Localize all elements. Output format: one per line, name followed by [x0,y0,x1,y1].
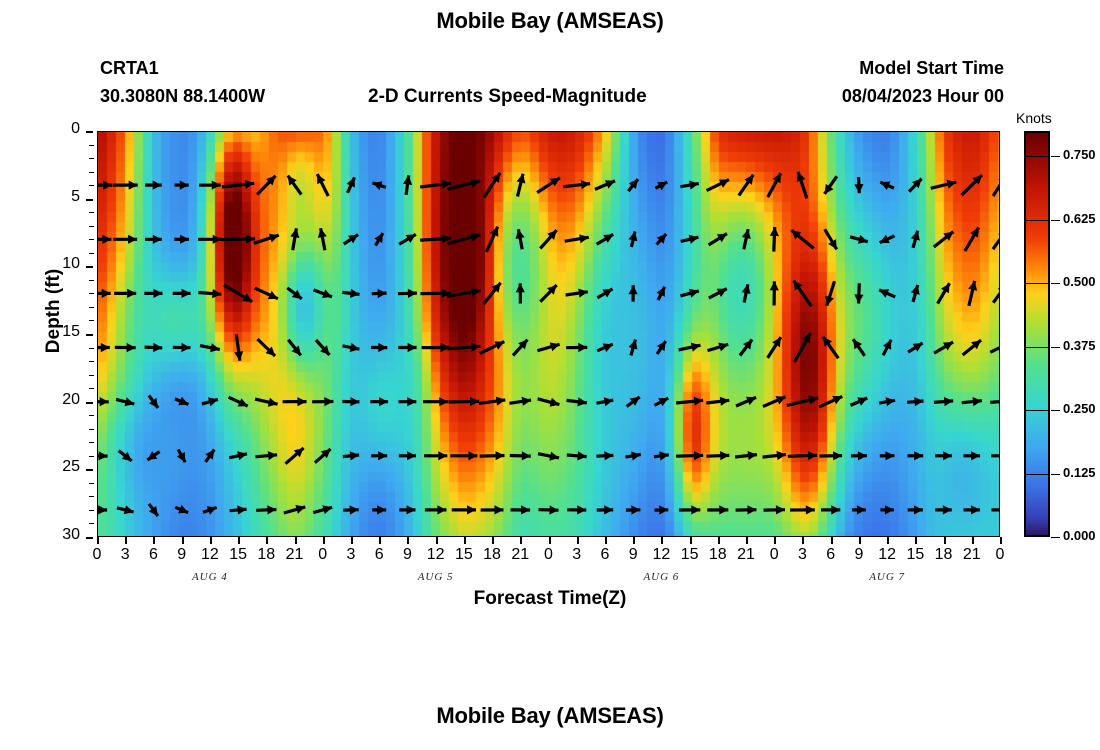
current-vector-arrow [317,174,328,196]
x-axis-tick-mark [746,537,748,544]
colorbar-tick-mark [1051,474,1060,475]
x-axis-tick-label: 21 [280,546,310,564]
current-vector-arrow [447,288,481,297]
y-axis-minor-tick [89,307,94,308]
current-vector-arrow [797,172,807,199]
colorbar-tick-label: 0.000 [1063,528,1096,543]
current-vector-arrow [770,281,779,305]
x-axis-tick-label: 3 [787,546,817,564]
current-vector-arrow [788,451,817,460]
current-vector-arrow [97,505,107,514]
y-axis-tick-label: 0 [40,120,80,138]
current-vector-arrow [229,451,247,460]
current-vector-arrow [425,505,447,514]
y-axis-tick-mark [86,266,93,268]
colorbar-tick-label: 0.750 [1063,147,1096,162]
current-vector-arrow [113,235,137,244]
current-vector-arrow [709,289,727,298]
colorbar-tick-mark [1051,347,1060,348]
station-id-label: CRTA1 [100,58,159,79]
x-axis-tick-label: 0 [759,546,789,564]
current-vector-arrow [909,179,922,192]
current-vector-arrow [911,231,920,248]
current-vector-arrow [736,505,757,514]
x-axis-tick-label: 21 [505,546,535,564]
current-vector-arrow [398,289,417,298]
x-axis-tick-label: 6 [816,546,846,564]
y-axis-minor-tick [89,523,94,524]
current-vector-arrow [540,230,556,248]
current-vector-arrow [854,177,863,193]
current-vector-arrow [911,285,920,302]
x-axis-day-label: AUG 6 [616,571,706,583]
y-axis-minor-tick [89,415,94,416]
x-axis-tick-label: 3 [336,546,366,564]
current-vector-arrow [283,397,307,406]
current-vector-arrow [709,234,727,245]
y-axis-tick-label: 15 [40,323,80,341]
current-vector-arrow [537,342,559,351]
current-vector-arrow [654,451,669,460]
colorbar-tick-mark [1051,156,1060,157]
current-vector-arrow [315,449,331,463]
current-vector-arrow [539,505,559,514]
current-vector-arrow [447,233,480,244]
current-vector-arrow [284,505,306,514]
colorbar-tick-label: 0.500 [1063,274,1096,289]
current-vector-arrow [97,397,109,406]
y-axis-tick-label: 25 [40,458,80,476]
current-vector-arrow [147,451,159,460]
current-vector-arrow [680,181,698,190]
current-vector-overlay [97,131,1000,537]
x-axis-tick-mark [125,537,127,544]
y-axis-minor-tick [89,483,94,484]
colorbar-tick-mark [1051,283,1060,284]
current-vector-arrow [679,505,700,514]
current-vector-arrow [399,234,416,244]
x-axis-tick-label: 18 [251,546,281,564]
current-vector-arrow [787,396,818,406]
current-vector-arrow [343,505,358,514]
bottom-title: Mobile Bay (AMSEAS) [0,703,1100,729]
current-vector-arrow [908,505,923,514]
current-vector-arrow [484,283,501,304]
current-vector-arrow [173,289,191,298]
current-vector-arrow [883,340,891,356]
current-vector-arrow [343,343,360,352]
y-axis-tick-mark [86,131,93,133]
current-vector-arrow [97,343,110,352]
x-axis-tick-label: 3 [110,546,140,564]
x-axis-tick-mark [182,537,184,544]
current-vector-arrow [993,174,1000,196]
current-vector-arrow [626,452,641,461]
current-vector-arrow [314,289,333,298]
current-vector-arrow [342,397,359,406]
current-vector-arrow [707,180,729,191]
y-axis-minor-tick [89,361,94,362]
current-vector-arrow [851,397,868,405]
current-vector-arrow [119,451,132,461]
current-vector-arrow [116,397,134,406]
current-vector-arrow [510,451,531,460]
colorbar [1024,131,1050,537]
x-axis-tick-label: 0 [985,546,1015,564]
current-vector-arrow [991,451,1000,460]
current-vector-arrow [935,505,952,514]
current-vector-arrow [486,227,498,252]
current-vector-arrow [825,281,834,305]
current-vector-arrow [480,451,505,460]
x-axis-tick-label: 12 [872,546,902,564]
x-axis-tick-label: 9 [167,546,197,564]
current-vector-arrow [115,343,136,352]
y-axis-tick-mark [86,537,93,539]
x-axis-tick-mark [238,537,240,544]
current-vector-arrow [880,235,895,243]
current-vector-arrow [398,343,416,352]
current-vector-arrow [399,451,416,460]
current-vector-arrow [706,451,729,460]
y-axis-minor-tick [89,212,94,213]
current-vector-arrow [290,228,299,250]
current-vector-arrow [234,334,243,360]
current-vector-arrow [421,289,451,298]
current-vector-arrow [825,229,837,249]
x-axis-tick-mark [718,537,720,544]
current-vector-arrow [819,451,842,460]
x-axis-day-label: AUG 5 [391,571,481,583]
current-vector-arrow [511,505,531,514]
current-vector-arrow [199,181,221,190]
current-vector-arrow [853,339,865,356]
x-axis-tick-label: 12 [195,546,225,564]
current-vector-arrow [993,284,1000,303]
x-axis-tick-mark [661,537,663,544]
x-axis-tick-mark [210,537,212,544]
current-vector-arrow [221,235,255,244]
current-vector-arrow [567,505,586,514]
current-vector-arrow [198,235,222,244]
y-axis-minor-tick [89,442,94,443]
current-vector-arrow [851,451,867,460]
current-vector-arrow [149,504,158,516]
x-axis-tick-label: 6 [590,546,620,564]
current-vector-arrow [626,505,641,514]
current-vector-arrow [854,283,863,303]
y-axis-minor-tick [89,429,94,430]
x-axis-tick-mark [859,537,861,544]
current-vector-arrow [708,343,729,352]
current-vector-arrow [372,505,386,514]
current-vector-arrow [97,451,108,460]
current-vector-arrow [175,397,189,406]
x-axis-tick-mark [802,537,804,544]
current-vector-arrow [513,340,528,356]
colorbar-division-line [1024,283,1050,284]
current-vector-arrow [540,285,556,302]
current-vector-arrow [880,451,895,460]
current-vector-arrow [423,397,448,406]
y-axis-minor-tick [89,158,94,159]
x-axis-tick-label: 6 [138,546,168,564]
current-vector-arrow [655,398,669,406]
current-vector-arrow [258,339,276,356]
current-vector-arrow [736,397,756,406]
current-vector-arrow [149,395,158,408]
current-vector-arrow [763,451,787,460]
current-vector-arrow [516,283,525,303]
current-vector-arrow [880,182,894,191]
current-vector-arrow [597,234,614,244]
current-vector-arrow [763,396,786,406]
x-axis-tick-mark [972,537,974,544]
current-vector-arrow [935,451,952,460]
current-vector-arrow [479,397,506,406]
current-vector-arrow [791,230,813,248]
current-vector-arrow [117,505,134,514]
current-vector-arrow [566,289,588,298]
x-axis-tick-mark [887,537,889,544]
current-vector-arrow [990,343,1000,353]
x-axis-title: Forecast Time(Z) [0,588,1100,610]
current-vector-arrow [742,229,751,249]
x-axis-tick-mark [1000,537,1002,544]
x-axis-tick-mark [774,537,776,544]
page-title: Mobile Bay (AMSEAS) [0,8,1100,34]
x-axis-tick-label: 0 [308,546,338,564]
current-vector-arrow [229,397,248,406]
current-vector-arrow [420,180,451,189]
current-vector-arrow [768,337,781,358]
y-axis-minor-tick [89,172,94,173]
current-vector-arrow [447,342,480,351]
current-vector-arrow [399,397,417,406]
current-vector-arrow [595,180,615,189]
colorbar-tick-label: 0.375 [1063,338,1096,353]
current-vector-arrow [968,281,977,306]
current-vector-arrow [879,289,895,297]
x-axis-tick-label: 15 [900,546,930,564]
current-vector-arrow [963,451,980,460]
current-vector-arrow [993,229,1000,249]
current-vector-arrow [992,505,1001,514]
current-vector-arrow [256,451,278,460]
y-axis-minor-tick [89,348,94,349]
current-vector-arrow [286,448,304,464]
current-vector-arrow [629,285,638,301]
x-axis-tick-label: 18 [477,546,507,564]
colorbar-division-line [1024,347,1050,348]
x-axis-tick-label: 0 [534,546,564,564]
current-vector-arrow [707,505,728,514]
current-vector-arrow [934,342,953,353]
current-vector-arrow [768,173,781,197]
current-vector-arrow [316,340,330,355]
current-vector-arrow [931,180,957,189]
current-vector-arrow [735,451,757,460]
x-axis-tick-label: 18 [703,546,733,564]
x-axis-tick-mark [577,537,579,544]
current-vector-arrow [567,451,587,460]
current-vector-arrow [794,281,812,307]
x-axis-tick-mark [605,537,607,544]
current-vector-arrow [424,451,447,460]
current-vector-arrow [962,397,982,406]
y-axis-minor-tick [89,253,94,254]
chart-subtitle: 2-D Currents Speed-Magnitude [368,86,647,108]
current-vector-arrow [256,505,276,514]
current-vector-arrow [537,178,560,193]
current-vector-arrow [655,182,667,190]
current-vector-arrow [97,235,111,244]
current-vector-arrow [449,397,479,406]
current-vector-arrow [224,285,252,302]
y-axis-tick-mark [86,199,93,201]
colorbar-division-line [1024,220,1050,221]
y-axis-minor-tick [89,226,94,227]
current-vector-arrow [964,505,981,514]
current-vector-arrow [938,283,950,303]
current-vector-arrow [481,505,504,514]
current-vector-arrow [680,289,698,298]
current-vector-arrow [597,344,613,353]
current-vector-arrow [254,234,279,244]
current-vector-arrow [509,397,531,406]
current-vector-arrow [934,232,954,247]
current-vector-arrow [145,181,162,190]
x-axis-tick-label: 21 [731,546,761,564]
current-vector-arrow [144,289,162,298]
y-axis-minor-tick [89,293,94,294]
colorbar-division-line [1024,410,1050,411]
current-vector-arrow [257,176,276,195]
current-vector-arrow [795,333,811,362]
current-vector-arrow [627,397,640,407]
current-vector-arrow [706,397,729,406]
current-vector-arrow [420,234,451,243]
current-vector-arrow [597,505,614,514]
current-vector-arrow [852,505,866,514]
x-axis-tick-mark [323,537,325,544]
current-vector-arrow [740,340,752,356]
current-vector-arrow [318,228,327,250]
current-vector-arrow [374,233,383,245]
current-vector-arrow [879,397,895,406]
x-axis-tick-mark [436,537,438,544]
y-axis-minor-tick [89,456,94,457]
current-vector-arrow [342,289,359,298]
current-vector-arrow [370,397,388,406]
current-vector-arrow [145,343,163,352]
current-vector-arrow [516,229,525,249]
current-vector-arrow [742,284,751,302]
current-vector-arrow [934,397,953,406]
current-vector-arrow [198,289,221,298]
x-axis-tick-mark [97,537,99,544]
current-vector-arrow [657,341,666,354]
current-vector-arrow [770,227,779,252]
x-axis-tick-label: 15 [675,546,705,564]
current-vector-arrow [145,235,162,244]
current-vector-arrow [312,397,333,406]
colorbar-tick-label: 0.625 [1063,211,1096,226]
x-axis-tick-mark [351,537,353,544]
x-axis-tick-mark [549,537,551,544]
current-vector-arrow [287,288,302,299]
current-vector-arrow [962,175,983,195]
current-vector-arrow [880,505,894,514]
current-vector-arrow [628,232,637,248]
current-vector-arrow [563,180,590,189]
x-axis-tick-label: 9 [844,546,874,564]
x-axis-tick-mark [944,537,946,544]
current-vector-arrow [908,451,924,460]
current-vector-arrow [764,505,786,514]
current-vector-arrow [288,340,301,356]
y-axis-tick-mark [86,402,93,404]
y-axis-minor-tick [89,388,94,389]
current-vector-arrow [422,343,450,352]
current-vector-arrow [790,505,815,514]
x-axis-tick-mark [492,537,494,544]
current-vector-arrow [114,289,136,298]
current-vector-arrow [963,340,981,355]
colorbar-tick-label: 0.250 [1063,401,1096,416]
y-axis-tick-mark [86,469,93,471]
current-vector-arrow [567,397,587,406]
current-vector-arrow [681,235,699,244]
current-vector-arrow [97,181,112,190]
current-vector-arrow [371,451,387,460]
current-vector-arrow [965,228,979,252]
current-vector-arrow [203,506,217,515]
colorbar-gradient [1026,133,1048,535]
current-vector-arrow [202,397,218,406]
current-vector-arrow [597,397,614,406]
current-vector-arrow [372,289,387,298]
current-vector-arrow [450,451,477,460]
current-vector-arrow [823,337,838,359]
current-vector-arrow [597,289,612,298]
y-axis-minor-tick [89,510,94,511]
x-axis-tick-label: 9 [392,546,422,564]
current-vector-arrow [173,343,191,352]
current-vector-arrow [538,398,560,407]
x-axis-tick-mark [831,537,833,544]
current-vector-arrow [205,450,214,462]
model-start-time-label: Model Start Time [859,58,1004,79]
current-vector-arrow [825,176,837,194]
current-vector-arrow [538,452,559,461]
x-axis-tick-mark [633,537,635,544]
current-vector-arrow [990,397,1000,406]
colorbar-title: Knots [1016,110,1052,126]
current-vector-arrow [255,288,278,299]
current-vector-arrow [174,235,189,244]
current-vector-arrow [175,181,189,190]
current-vector-arrow [628,179,638,191]
current-vector-arrow [343,451,359,460]
x-axis-tick-mark [915,537,917,544]
current-vector-arrow [908,343,923,352]
current-vector-arrow [657,287,665,300]
x-axis-tick-label: 3 [562,546,592,564]
current-vector-arrow [655,505,669,514]
current-vector-arrow [230,505,247,514]
x-axis-tick-label: 15 [223,546,253,564]
